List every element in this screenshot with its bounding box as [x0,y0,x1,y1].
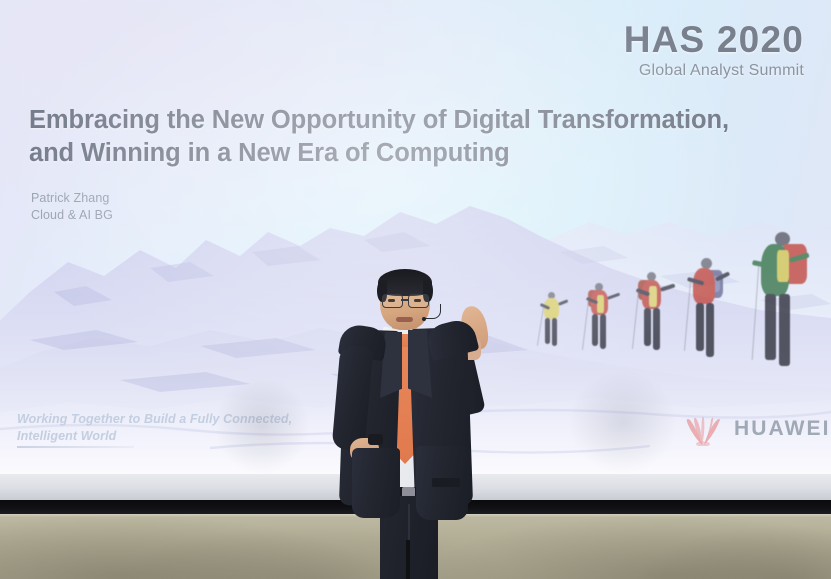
event-title: HAS 2020 [624,20,804,60]
jacket-pocket [432,478,460,487]
presentation-clicker [368,434,383,445]
brand-tagline: Working Together to Build a Fully Connec… [17,411,307,445]
headset-microphone-icon [424,304,441,319]
slide-headline: Embracing the New Opportunity of Digital… [29,104,769,170]
huawei-wordmark: HUAWEI [734,417,831,441]
presenter-name: Patrick Zhang [31,190,113,207]
tagline-line-2: Intelligent World [17,428,307,445]
mouth [396,317,413,322]
huawei-logo: HUAWEI [681,412,831,446]
tagline-divider [17,446,134,448]
event-branding: HAS 2020 Global Analyst Summit [624,20,804,81]
speaker-figure [336,272,531,579]
eye [414,299,421,302]
eye [388,299,395,302]
tagline-line-1: Working Together to Build a Fully Connec… [17,411,307,428]
event-subtitle: Global Analyst Summit [624,61,804,81]
headset-mic-tip [422,317,426,321]
keynote-photo: HAS 2020 Global Analyst Summit Embracing… [0,0,831,579]
trouser-gap [406,540,410,579]
huawei-petal-flower-icon [681,412,725,446]
presenter-org: Cloud & AI BG [31,207,113,224]
headline-line-2: and Winning in a New Era of Computing [29,137,769,170]
headline-line-1: Embracing the New Opportunity of Digital… [29,106,729,134]
jacket-skirt-left [352,448,400,518]
presenter-block: Patrick Zhang Cloud & AI BG [31,190,113,223]
